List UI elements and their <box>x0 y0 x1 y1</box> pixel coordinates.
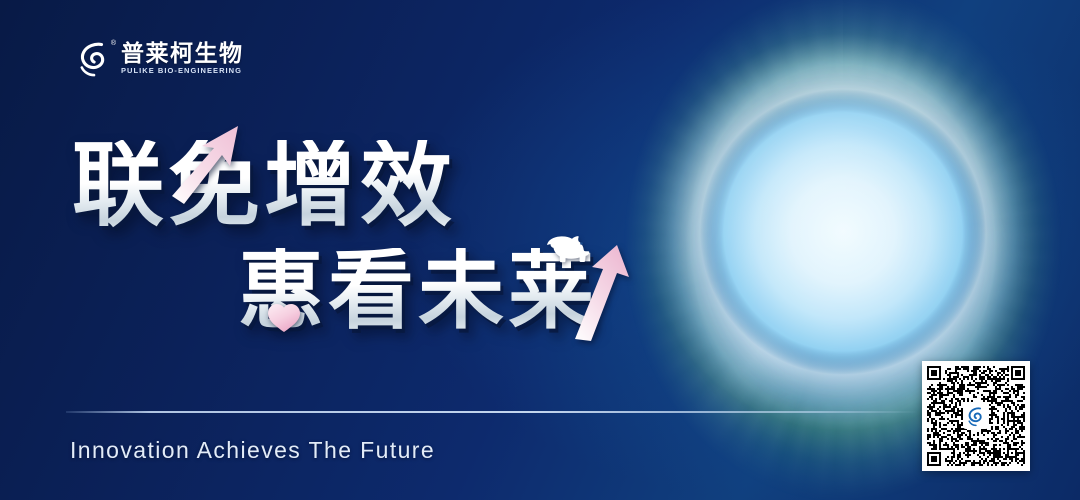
heart-icon <box>266 301 302 334</box>
tagline: Innovation Achieves The Future <box>70 437 435 464</box>
headline-block: 联免增效 惠看未莱 <box>0 0 660 370</box>
qr-canvas-wrap <box>927 366 1025 466</box>
divider <box>66 411 918 413</box>
rising-bolt-arrow-icon <box>168 122 242 206</box>
headline-line-1: 联免增效 <box>72 140 456 232</box>
wechat-qr-code[interactable] <box>922 361 1030 471</box>
qr-center-logo <box>963 403 989 429</box>
rising-arrow-icon <box>573 243 631 341</box>
promotional-banner: ® 普莱柯生物 PULIKE BIO-ENGINEERING 联免增效 惠看未莱 <box>0 0 1080 500</box>
